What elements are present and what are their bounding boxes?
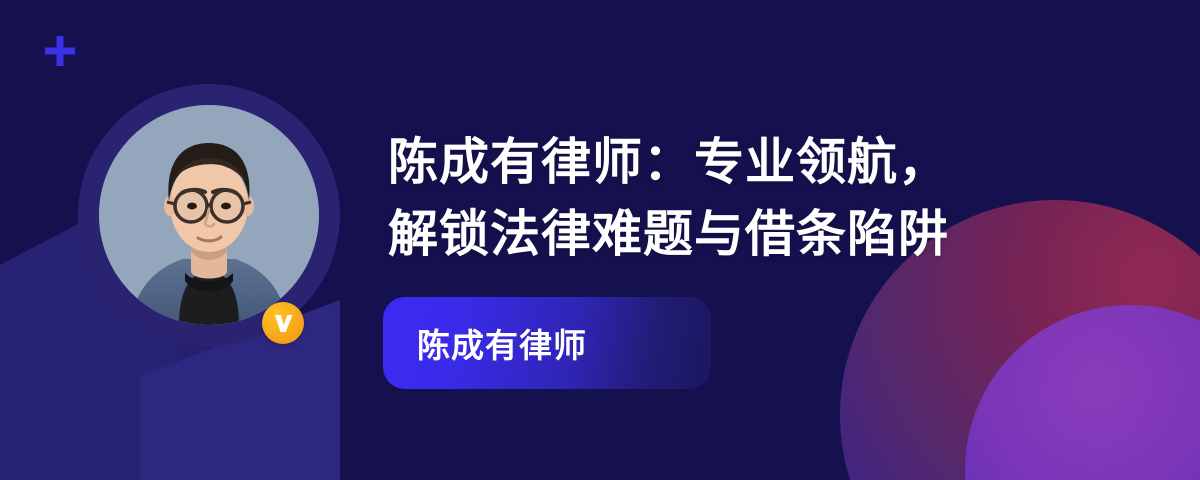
avatar <box>78 84 340 346</box>
headline-line-2: 解锁法律难题与借条陷阱 <box>388 198 1168 270</box>
plus-icon <box>43 34 77 68</box>
lawyer-profile-banner: 陈成有律师：专业领航， 解锁法律难题与借条陷阱 陈成有律师 <box>0 0 1200 480</box>
headline-block: 陈成有律师：专业领航， 解锁法律难题与借条陷阱 <box>388 126 1168 270</box>
verified-badge-icon <box>262 302 304 344</box>
avatar-photo <box>99 105 319 325</box>
page-title: 陈成有律师：专业领航， 解锁法律难题与借条陷阱 <box>388 126 1168 270</box>
lawyer-name-button[interactable]: 陈成有律师 <box>383 297 711 389</box>
headline-line-1: 陈成有律师：专业领航， <box>388 126 1168 198</box>
